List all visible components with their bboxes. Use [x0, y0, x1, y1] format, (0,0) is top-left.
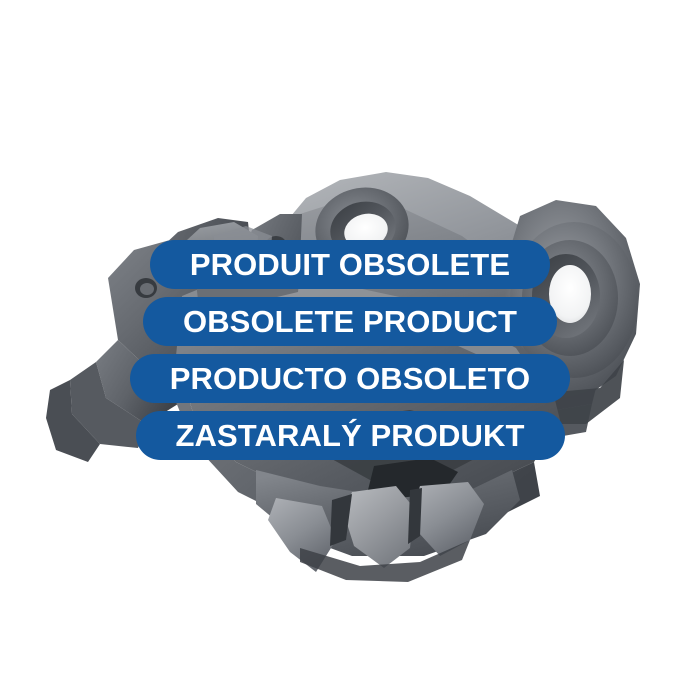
product-render-svg	[0, 0, 700, 700]
obsolete-badge-en[interactable]: OBSOLETE PRODUCT	[143, 297, 557, 346]
obsolete-badge-es[interactable]: PRODUCTO OBSOLETO	[130, 354, 571, 403]
obsolete-badge-fr[interactable]: PRODUIT OBSOLETE	[150, 240, 550, 289]
obsolete-badge-cs[interactable]: ZASTARALÝ PRODUKT	[136, 411, 565, 460]
lower-jaw-gap-right	[408, 488, 422, 544]
product-obsolete-page: PRODUIT OBSOLETE OBSOLETE PRODUCT PRODUC…	[0, 0, 700, 700]
obsolete-badge-es-label: PRODUCTO OBSOLETO	[170, 363, 531, 394]
left-plate-pin-hole-inner	[140, 283, 154, 295]
obsolete-badge-en-label: OBSOLETE PRODUCT	[183, 306, 517, 337]
product-render-image	[0, 0, 700, 700]
obsolete-badge-fr-label: PRODUIT OBSOLETE	[190, 249, 510, 280]
obsolete-badge-cs-label: ZASTARALÝ PRODUKT	[176, 420, 525, 451]
